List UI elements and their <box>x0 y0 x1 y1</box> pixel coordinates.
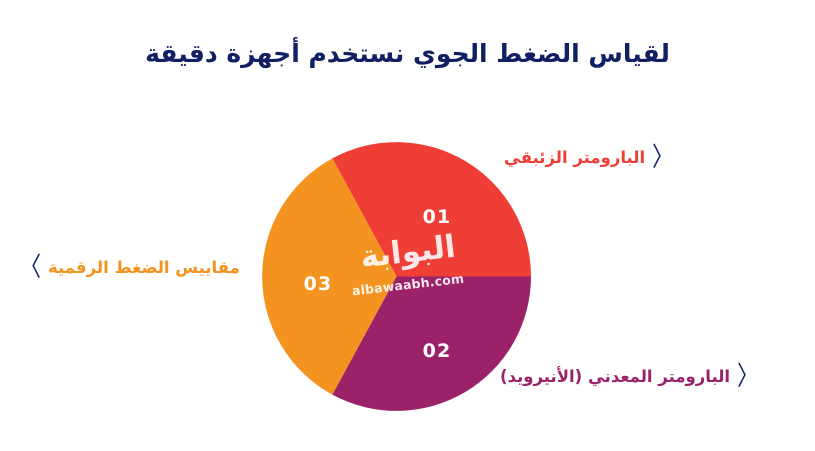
chevron-left-icon: 〈 <box>737 363 758 389</box>
pie-chart-svg: 01 02 03 <box>262 142 531 411</box>
callout-02[interactable]: 〈 البارومتر المعدني (الأنيرويد) <box>500 366 758 387</box>
chevron-left-icon: 〈 <box>652 144 673 170</box>
page-title: لقياس الضغط الجوي نستخدم أجهزة دقيقة <box>0 38 815 69</box>
callout-02-label: البارومتر المعدني (الأنيرويد) <box>500 367 730 387</box>
callout-01[interactable]: 〈 البارومتر الزئبقي <box>504 147 673 168</box>
callout-03-label: مقاييس الضغط الرقمية <box>48 258 240 278</box>
pie-chart: 01 02 03 <box>262 142 531 411</box>
pie-slice-03-value: 03 <box>304 273 333 295</box>
callout-03[interactable]: 〈 مقاييس الضغط الرقمية <box>20 257 240 278</box>
infographic-canvas: لقياس الضغط الجوي نستخدم أجهزة دقيقة 01 … <box>0 0 815 451</box>
pie-slice-02-value: 02 <box>423 340 452 362</box>
pie-slice-01-value: 01 <box>423 206 452 228</box>
chevron-right-icon: 〈 <box>20 254 41 280</box>
callout-01-label: البارومتر الزئبقي <box>504 148 645 168</box>
